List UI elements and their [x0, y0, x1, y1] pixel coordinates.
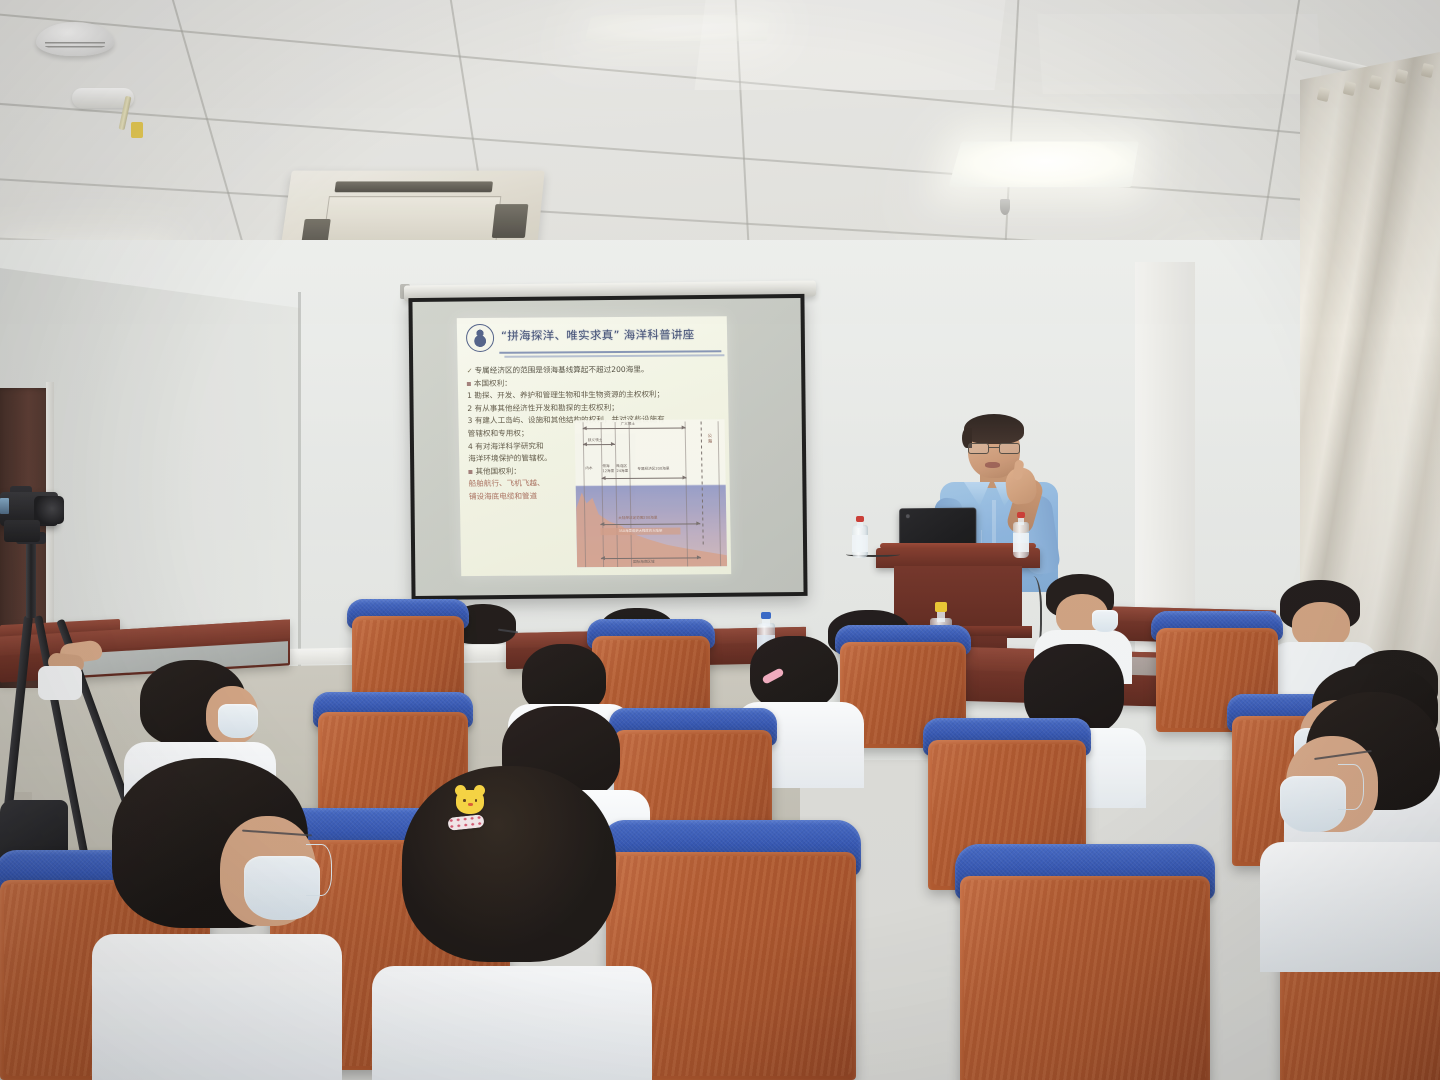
- slide-title: “拼海探洋、唯实求真” 海洋科普讲座: [501, 326, 719, 344]
- smoke-detector-icon: [36, 22, 114, 56]
- audience-member: [1280, 692, 1440, 932]
- maritime-zones-diagram: 广义领土 狭义领土 内水 领海 12海里 毗连区 24海里 专属经济区200海里…: [575, 419, 728, 567]
- lecture-hall-photo: “拼海探洋、唯实求真” 海洋科普讲座 ✓专属经济区的范围是领海基线算起不超过20…: [0, 0, 1440, 1080]
- led-panel-light: [948, 142, 1138, 188]
- bottle-podium-right[interactable]: [1013, 512, 1029, 558]
- face-mask-icon: [218, 704, 258, 738]
- diagram-label-sub: 狭义领土: [588, 438, 602, 443]
- lectern-body: [894, 566, 1022, 628]
- square-bullet-icon: [468, 470, 472, 474]
- audience-member: [92, 758, 322, 1080]
- eyeglasses-icon: [967, 443, 1021, 454]
- laptop-logo-icon: [906, 514, 910, 518]
- presenter-mouth: [985, 462, 1000, 468]
- sprinkler-head-right-icon: [1000, 199, 1010, 215]
- wall-corner-edge: [298, 292, 301, 692]
- slide-divider-secondary: [504, 354, 724, 357]
- face-mask-icon: [1280, 776, 1346, 832]
- audience-member: [382, 766, 632, 1080]
- diagram-label-top: 广义领土: [621, 422, 635, 427]
- diagram-label-high-seas: 公海: [706, 433, 712, 444]
- presenter-hair: [964, 414, 1024, 444]
- diagram-label-bottom: 国际海底区域: [633, 560, 655, 565]
- camera-lcd-screen: [0, 498, 9, 514]
- diagram-band-upper: 大陆架法定范围200海里: [618, 516, 657, 521]
- square-bullet-icon: [467, 382, 471, 386]
- slide-divider: [499, 350, 721, 354]
- projection-screen: “拼海探洋、唯实求真” 海洋科普讲座 ✓专属经济区的范围是领海基线算起不超过20…: [408, 294, 807, 600]
- camera-grip: [4, 520, 40, 542]
- diagram-band-lower: 350海里或更大程度的大陆架: [600, 528, 680, 536]
- sprinkler-tag: [131, 122, 143, 138]
- bear-face-icon: [462, 799, 478, 808]
- check-icon: ✓: [467, 367, 473, 375]
- auditorium-seat[interactable]: [960, 876, 1210, 1080]
- led-panel-light-far: [585, 15, 770, 41]
- presentation-slide: “拼海探洋、唯实求真” 海洋科普讲座 ✓专属经济区的范围是领海基线算起不超过20…: [457, 316, 732, 576]
- bottle-podium-left[interactable]: [852, 516, 868, 558]
- camera-operator: [42, 632, 132, 698]
- yellow-bear-hairclip: [456, 790, 484, 814]
- slide-header: “拼海探洋、唯实求真” 海洋科普讲座: [457, 316, 728, 362]
- tripod-center-column: [26, 540, 36, 618]
- university-crest-icon: [466, 324, 494, 352]
